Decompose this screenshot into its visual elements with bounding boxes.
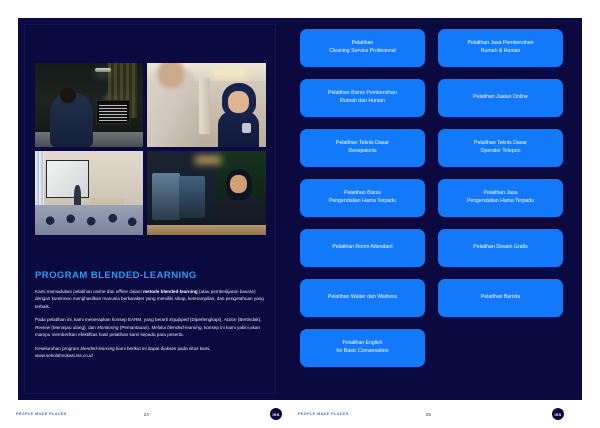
photo-classroom-presentation — [35, 151, 143, 235]
page-number: 25 — [349, 412, 552, 417]
face-shape — [228, 91, 249, 113]
training-card[interactable]: Pelatihan Teknis Dasar Resepsionis — [300, 129, 425, 167]
uniform-badge-shape — [242, 123, 251, 133]
paragraph-website: Keseluruhan program blended-learning kam… — [35, 345, 267, 360]
audience-shape — [35, 205, 143, 235]
page-number: 24 — [67, 412, 270, 417]
slide-right[interactable]: Pelatihan Cleaning Service Profesional P… — [283, 18, 582, 400]
footer-tagline: PEOPLE MAKE PLACES — [16, 412, 67, 416]
slide-left[interactable]: PROGRAM BLENDED-LEARNING Kami memadukan … — [18, 18, 282, 400]
paragraph-earm: Pada pelatihan ini, kami menerapkan kons… — [35, 316, 267, 338]
training-card[interactable]: Pelatihan Cleaning Service Profesional — [300, 29, 425, 67]
warm-light-shape — [195, 156, 221, 164]
pillar-shape — [199, 78, 210, 133]
photo-man-at-desk — [35, 63, 143, 147]
training-card[interactable]: Pelatihan English for Basic Conversation — [300, 329, 425, 367]
training-card-placeholder — [438, 329, 563, 367]
training-card[interactable]: Pelatihan Bisnis Pembersihan Rumah dan H… — [300, 79, 425, 117]
training-card[interactable]: Pelatihan Bisnis Pengendalian Hama Terpa… — [300, 179, 425, 217]
agent-desk-shape — [147, 225, 266, 235]
blurred-hand-shape — [158, 63, 184, 88]
slide-deck-view: PROGRAM BLENDED-LEARNING Kami memadukan … — [0, 0, 600, 428]
agent-face-shape — [230, 175, 247, 193]
window-blind-shape — [35, 151, 44, 211]
monitor-shape — [96, 100, 130, 124]
footer-right-slide: PEOPLE MAKE PLACES 25 ISS — [298, 407, 564, 421]
photo-grid — [35, 63, 266, 243]
training-card[interactable]: Pelatihan Waiter dan Waitress — [300, 279, 425, 317]
training-program-card-grid: Pelatihan Cleaning Service Profesional P… — [300, 29, 563, 367]
paragraph-intro: Kami memadukan pelatihan online dan offl… — [35, 288, 267, 310]
uniform-shape — [218, 111, 258, 147]
training-card[interactable]: Pelatihan Room Attendant — [300, 229, 425, 267]
training-card[interactable]: Pelatihan Jasa Pengendalian Hama Terpadu — [438, 179, 563, 217]
footer-tagline: PEOPLE MAKE PLACES — [298, 412, 349, 416]
training-card[interactable]: Pelatihan Teknis Dasar Operator Telepon — [438, 129, 563, 167]
iss-logo-icon: ISS — [552, 408, 564, 420]
monitor-two-shape — [179, 176, 205, 218]
monitor-one-shape — [152, 173, 181, 220]
training-card[interactable]: Pelatihan Jualan Online — [438, 79, 563, 117]
training-card[interactable]: Pelatihan Barista — [438, 279, 563, 317]
ceiling-lamp-shape — [95, 68, 111, 72]
body-copy: Kami memadukan pelatihan online dan offl… — [35, 288, 267, 360]
page-title: PROGRAM BLENDED-LEARNING — [35, 270, 197, 281]
training-card[interactable]: Pelatihan Desain Grafis — [438, 229, 563, 267]
footer-left-slide: PEOPLE MAKE PLACES 24 ISS — [16, 407, 282, 421]
slide-canvas: PROGRAM BLENDED-LEARNING Kami memadukan … — [18, 18, 582, 400]
iss-logo-icon: ISS — [270, 408, 282, 420]
projector-screen-shape — [46, 160, 89, 197]
photo-smiling-woman-hijab — [147, 63, 266, 147]
ceiling-light-shape — [214, 71, 245, 75]
training-card[interactable]: Pelatihan Jasa Pembersihan Rumah & Hunia… — [438, 29, 563, 67]
photo-call-center-agent — [147, 151, 266, 235]
woman-figure — [218, 83, 258, 147]
